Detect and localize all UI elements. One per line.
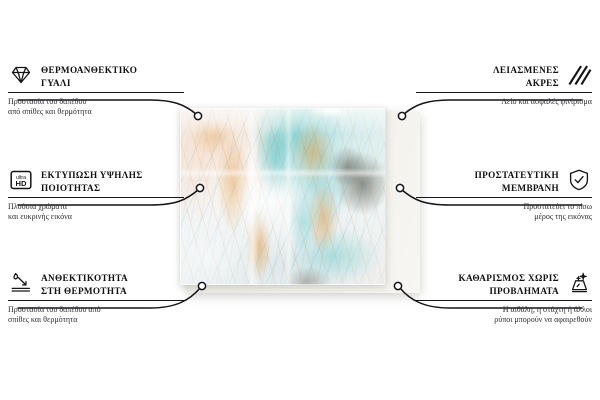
feature-title: ΘΕΡΜΟΑΝΘΕΚΤΙΚΟ ΓΥΑΛΙ (41, 62, 137, 89)
feature-heat-resistant-glass: ΘΕΡΜΟΑΝΘΕΚΤΙΚΟ ΓΥΑΛΙ Προστασία του δαπέδ… (8, 62, 184, 118)
divider (8, 92, 184, 93)
ultra-hd-icon: ultra HD (8, 167, 34, 193)
feature-protective-membrane: ΠΡΟΣΤΑΤΕΥΤΙΚΗ ΜΕΜΒΡΑΝΗ Προστατεύει το πί… (416, 167, 592, 223)
feature-title: ΕΚΤΥΠΩΣΗ ΥΨΗΛΗΣ ΠΟΙΟΤΗΤΑΣ (41, 167, 143, 194)
svg-text:HD: HD (16, 179, 27, 188)
feature-title: ΠΡΟΣΤΑΤΕΥΤΙΚΗ ΜΕΜΒΡΑΝΗ (475, 167, 559, 194)
divider (8, 197, 184, 198)
feature-title: ΛΕΙΑΣΜΕΝΕΣ ΑΚΡΕΣ (493, 62, 559, 89)
feature-easy-cleaning: ΚΑΘΑΡΙΣΜΟΣ ΧΩΡΙΣ ΠΡΟΒΛΗΜΑΤΑ Η αιθάλη, η … (416, 270, 592, 326)
feature-title: ΚΑΘΑΡΙΣΜΟΣ ΧΩΡΙΣ ΠΡΟΒΛΗΜΑΤΑ (459, 270, 559, 297)
diagonal-lines-icon (566, 62, 592, 88)
feature-title: ΑΝΘΕΚΤΙΚΟΤΗΤΑ ΣΤΗ ΘΕΡΜΟΤΗΤΑ (41, 270, 128, 297)
divider (416, 197, 592, 198)
feature-description: Προστασία του δαπέδου από σπίθες και θερ… (8, 305, 184, 326)
infographic-canvas: ΘΕΡΜΟΑΝΘΕΚΤΙΚΟ ΓΥΑΛΙ Προστασία του δαπέδ… (0, 0, 600, 400)
shield-check-icon (566, 167, 592, 193)
panel-front-face (180, 108, 386, 285)
feature-description: Πλούσια χρώματα και ευκρινής εικόνα (8, 202, 184, 223)
feature-polished-edges: ΛΕΙΑΣΜΕΝΕΣ ΑΚΡΕΣ Λείο και ασφαλές φινίρι… (416, 62, 592, 107)
feature-description: Λείο και ασφαλές φινίρισμα (416, 97, 592, 107)
panel-edge-highlight (180, 108, 386, 285)
feature-heat-durability: ΑΝΘΕΚΤΙΚΟΤΗΤΑ ΣΤΗ ΘΕΡΜΟΤΗΤΑ Προστασία το… (8, 270, 184, 326)
feature-description: Η αιθάλη, η στάχτη ή άλλοι ρύποι μπορούν… (416, 305, 592, 326)
flame-deflect-icon (8, 270, 34, 296)
sponge-sparkle-icon (566, 270, 592, 296)
divider (8, 300, 184, 301)
divider (416, 92, 592, 93)
feature-description: Προστασία του δαπέδου από σπίθες και θερ… (8, 97, 184, 118)
feature-high-quality-print: ultra HD ΕΚΤΥΠΩΣΗ ΥΨΗΛΗΣ ΠΟΙΟΤΗΤΑΣ Πλούσ… (8, 167, 184, 223)
divider (416, 300, 592, 301)
product-image (180, 108, 420, 293)
feature-description: Προστατεύει το πίσω μέρος της εικόνας (416, 202, 592, 223)
diamond-icon (8, 62, 34, 88)
